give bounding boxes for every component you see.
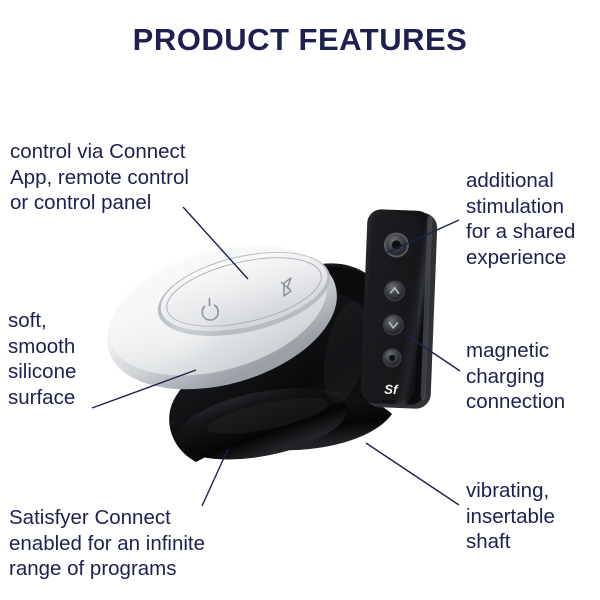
callout-line: range of programs xyxy=(9,556,205,582)
callout-soft-smooth-silicone-surface: soft, smooth silicone surface xyxy=(8,308,76,410)
remote-control[interactable]: Sf xyxy=(360,209,437,409)
callout-line: or control panel xyxy=(10,190,189,216)
callout-vibrating-insertable-shaft: vibrating, insertable shaft xyxy=(466,478,555,555)
remote-brand-mark: Sf xyxy=(384,382,399,398)
callout-line: control via Connect xyxy=(10,139,189,165)
callout-line: Satisfyer Connect xyxy=(9,505,205,531)
callout-line: for a shared xyxy=(466,219,575,245)
callout-line: silicone xyxy=(8,359,76,385)
callout-additional-stimulation: additional stimulation for a shared expe… xyxy=(466,168,575,270)
callout-line: charging xyxy=(466,364,565,390)
callout-line: smooth xyxy=(8,334,76,360)
callout-control-via-connect-app: control via Connect App, remote control … xyxy=(10,139,189,216)
callout-line: App, remote control xyxy=(10,165,189,191)
callout-line: shaft xyxy=(466,529,555,555)
callout-line: magnetic xyxy=(466,338,565,364)
callout-line: enabled for an infinite xyxy=(9,531,205,557)
callout-line: soft, xyxy=(8,308,76,334)
callout-satisfyer-connect-enabled: Satisfyer Connect enabled for an infinit… xyxy=(9,505,205,582)
product-features-infographic: PRODUCT FEATURES xyxy=(0,0,600,600)
callout-line: stimulation xyxy=(466,194,575,220)
callout-line: insertable xyxy=(466,504,555,530)
callout-magnetic-charging-connection: magnetic charging connection xyxy=(466,338,565,415)
callout-line: additional xyxy=(466,168,575,194)
callout-line: vibrating, xyxy=(466,478,555,504)
callout-line: surface xyxy=(8,385,76,411)
callout-line: experience xyxy=(466,245,575,271)
callout-line: connection xyxy=(466,389,565,415)
